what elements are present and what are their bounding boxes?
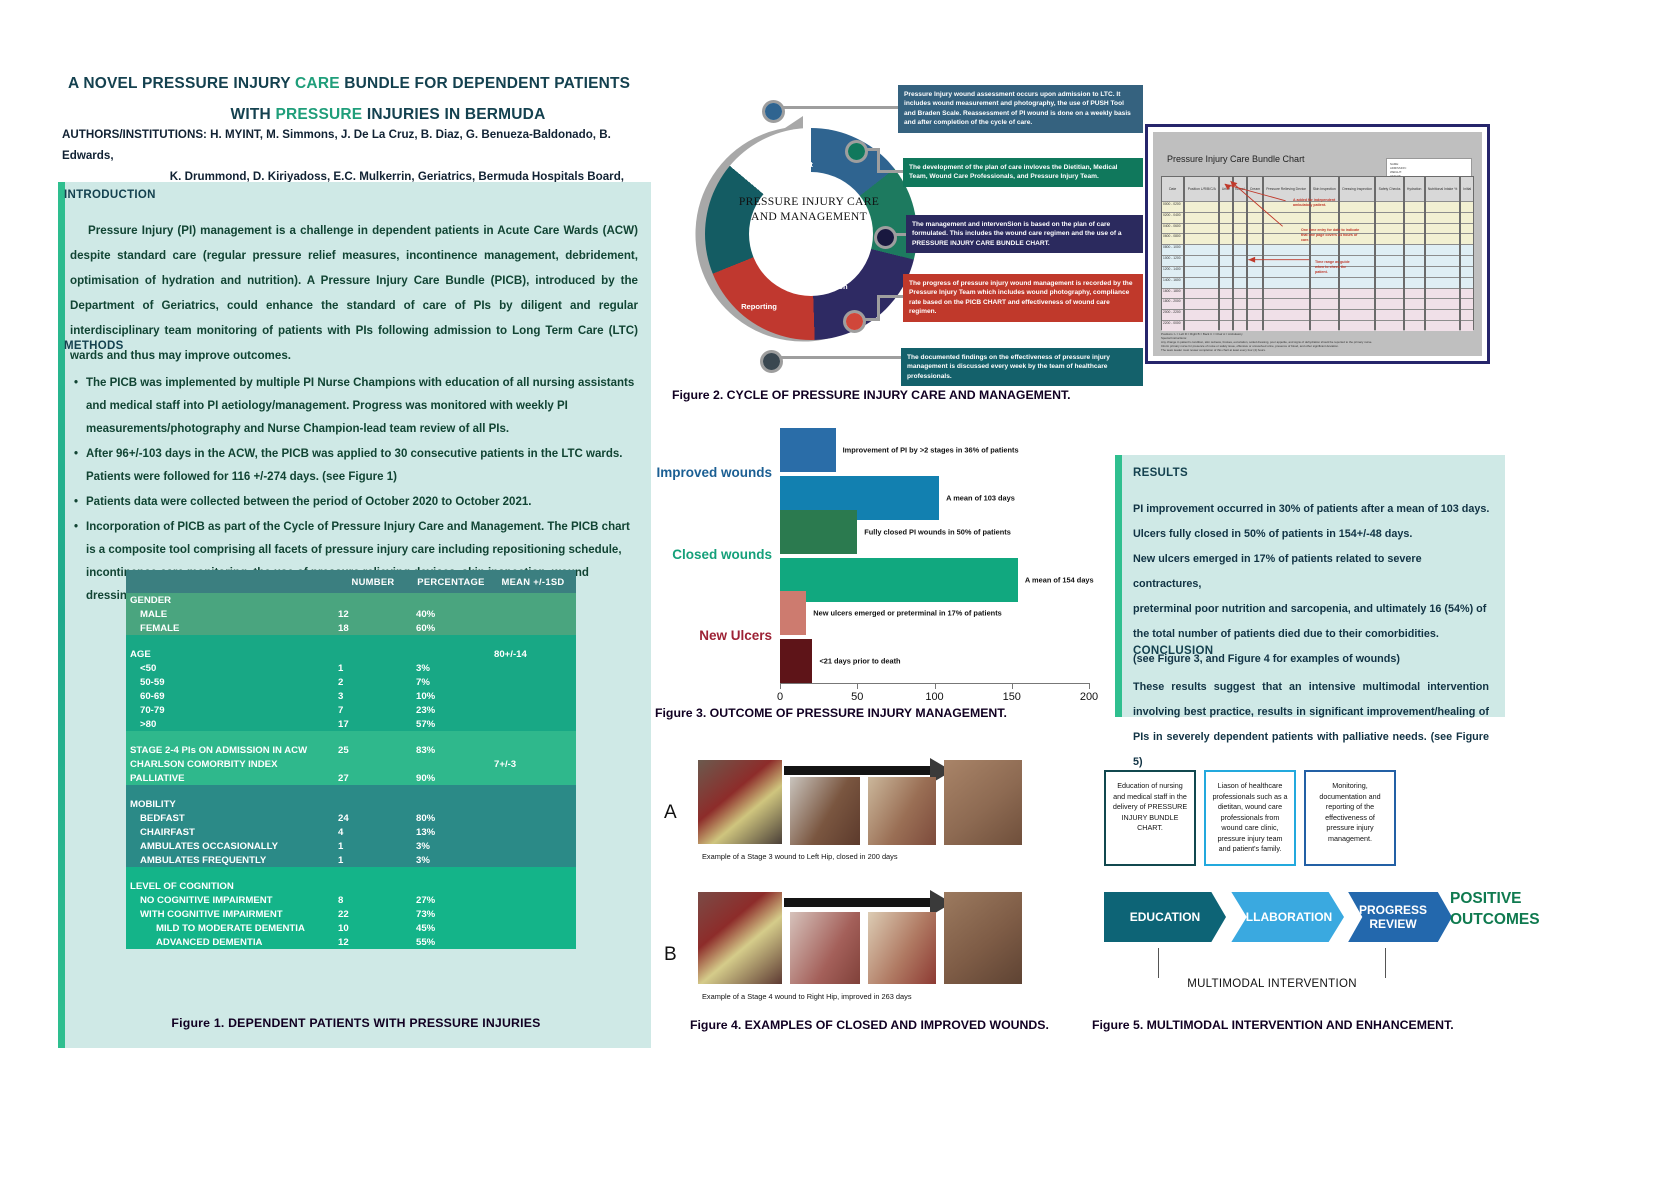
picb-cell <box>1220 277 1231 288</box>
table-cell-mean <box>490 717 576 731</box>
picb-cell <box>1340 212 1374 223</box>
picb-cell <box>1426 201 1460 212</box>
col-header-label <box>126 570 334 593</box>
wound-photo-a4 <box>944 760 1022 845</box>
picb-cell <box>1248 320 1261 331</box>
title-part-2: CARE <box>295 75 344 92</box>
picb-column-header: Bowel <box>1234 177 1247 201</box>
cycle-hub-documentation <box>843 310 866 333</box>
figure3-x-axis: 050100150200 <box>780 683 1089 684</box>
picb-cell <box>1185 266 1218 277</box>
figure3-bar-label: A mean of 103 days <box>946 493 1015 502</box>
cycle-hub-reporting <box>760 350 783 373</box>
figure3-axis-tick <box>935 683 936 689</box>
table-cell-label: >80 <box>126 717 334 731</box>
picb-cell <box>1376 223 1402 234</box>
table-cell-mean <box>490 675 576 689</box>
table-cell-number: 10 <box>334 921 412 935</box>
picb-cell <box>1248 309 1261 320</box>
wound-photo-a3 <box>868 777 936 845</box>
table-cell-mean <box>490 893 576 907</box>
picb-cell <box>1311 212 1338 223</box>
picb-cell <box>1376 288 1402 299</box>
picb-cell: 0400 - 0600 <box>1162 223 1183 234</box>
picb-cell <box>1461 320 1473 331</box>
picb-column-header: Cream <box>1248 177 1261 201</box>
table-cell-number: 12 <box>334 607 412 621</box>
picb-cell <box>1234 309 1247 320</box>
figure5-stage-education: EDUCATION <box>1104 892 1226 942</box>
picb-cell <box>1220 288 1231 299</box>
picb-cell <box>1220 298 1231 309</box>
table-row: MALE1240% <box>126 607 576 621</box>
picb-cell <box>1461 309 1473 320</box>
picb-cell <box>1426 266 1460 277</box>
figure4-caption-b: Example of a Stage 4 wound to Right Hip,… <box>702 992 912 1001</box>
table-cell-number: 4 <box>334 825 412 839</box>
table-cell-number: 7 <box>334 703 412 717</box>
table-spacer-row <box>126 635 576 647</box>
table-row: FEMALE1860% <box>126 621 576 635</box>
picb-cell <box>1426 233 1460 244</box>
picb-cell <box>1234 223 1247 234</box>
picb-cell: 1600 - 1800 <box>1162 288 1183 299</box>
picb-cell <box>1461 266 1473 277</box>
figure3-group-label: New Ulcers <box>699 628 772 643</box>
segment-label-plan-of-care: Plan ofCare <box>805 180 853 200</box>
table-cell-percentage: 27% <box>412 893 490 907</box>
table-row: WITH COGNITIVE IMPAIRMENT2273% <box>126 907 576 921</box>
picb-column-header: Initial <box>1461 177 1473 201</box>
table-row: PALLIATIVE2790% <box>126 771 576 785</box>
table-cell-number: 18 <box>334 621 412 635</box>
table-cell-percentage <box>412 647 490 661</box>
figure4-row-letter-a: A <box>664 802 677 824</box>
table-cell-label: STAGE 2-4 PIs ON ADMISSION IN ACW <box>126 743 334 757</box>
picb-cell <box>1264 266 1309 277</box>
table-spacer-row <box>126 731 576 743</box>
figure5-box-education: Education of nursing and medical staff i… <box>1104 770 1196 866</box>
figure3-group-label: Improved wounds <box>656 465 772 480</box>
figure3-bar-label: New ulcers emerged or preterminal in 17%… <box>813 609 1002 618</box>
picb-column-body: 0000 - 02000200 - 04000400 - 06000600 - … <box>1162 201 1183 331</box>
picb-cell <box>1220 212 1231 223</box>
table-row: 60-69310% <box>126 689 576 703</box>
results-line: New ulcers emerged in 17% of patients re… <box>1133 547 1493 597</box>
col-header-mean: MEAN +/-1SD <box>490 570 576 593</box>
picb-column-header: Nutritional Intake % <box>1426 177 1460 201</box>
picb-cell <box>1405 223 1424 234</box>
table-cell-percentage: 57% <box>412 717 490 731</box>
segment-label-assessment: Assessment/Re-assessment <box>749 150 821 170</box>
picb-annotation-3: Time range as guide when to check the pa… <box>1315 260 1357 275</box>
picb-cell <box>1376 201 1402 212</box>
picb-cell <box>1248 223 1261 234</box>
table-cell-mean <box>490 703 576 717</box>
table-cell-label: AMBULATES FREQUENTLY <box>126 853 334 867</box>
picb-cell <box>1461 223 1473 234</box>
table-cell-percentage <box>412 879 490 893</box>
picb-cell <box>1340 288 1374 299</box>
callout-box-reporting: The documented findings on the effective… <box>901 348 1143 386</box>
cycle-center-line-2: AND MANAGEMENT <box>693 209 925 224</box>
table-row: <5013% <box>126 661 576 675</box>
table-row: AMBULATES OCCASIONALLY13% <box>126 839 576 853</box>
figure5-outcome-line-2: OUTCOMES <box>1450 909 1540 930</box>
picb-cell <box>1234 212 1247 223</box>
picb-cell <box>1376 277 1402 288</box>
picb-cell <box>1340 320 1374 331</box>
picb-cell <box>1264 244 1309 255</box>
picb-cell <box>1248 233 1261 244</box>
introduction-heading: INTRODUCTION <box>64 189 156 201</box>
picb-cell <box>1376 233 1402 244</box>
picb-cell: 1200 - 1400 <box>1162 266 1183 277</box>
figure3-axis-tick-label: 200 <box>1080 691 1098 703</box>
picb-cell <box>1185 212 1218 223</box>
results-line: the total number of patients died due to… <box>1133 622 1493 647</box>
figure2-cycle-diagram: PRESSURE INJURY CARE AND MANAGEMENT Asse… <box>655 82 1155 392</box>
table-cell-number <box>334 647 412 661</box>
figure5-stage-collaboration: COLLABORATION <box>1216 892 1344 942</box>
table-cell-label: 50-59 <box>126 675 334 689</box>
figure3-axis-tick-label: 100 <box>925 691 943 703</box>
picb-cell: 0000 - 0200 <box>1162 201 1183 212</box>
picb-chart-image: Pressure Injury Care Bundle Chart NAME:A… <box>1145 124 1490 364</box>
table-cell-mean <box>490 797 576 811</box>
table-cell-label: AMBULATES OCCASIONALLY <box>126 839 334 853</box>
picb-cell <box>1185 244 1218 255</box>
picb-cell <box>1376 212 1402 223</box>
table-cell-number: 8 <box>334 893 412 907</box>
picb-column-header: Date <box>1162 177 1183 201</box>
picb-cell <box>1234 288 1247 299</box>
picb-cell <box>1220 255 1231 266</box>
picb-cell <box>1234 266 1247 277</box>
table-cell-number: 27 <box>334 771 412 785</box>
segment-label-management: Management/Intervention <box>807 230 869 250</box>
table-row: >801757% <box>126 717 576 731</box>
picb-cell <box>1376 320 1402 331</box>
table-cell-label: MOBILITY <box>126 797 334 811</box>
table-cell-label: NO COGNITIVE IMPAIRMENT <box>126 893 334 907</box>
picb-cell <box>1405 201 1424 212</box>
picb-cell <box>1405 255 1424 266</box>
figure3-axis-tick <box>857 683 858 689</box>
picb-cell <box>1264 298 1309 309</box>
picb-cell <box>1311 277 1338 288</box>
picb-cell <box>1220 266 1231 277</box>
picb-cell <box>1376 298 1402 309</box>
picb-cell <box>1405 309 1424 320</box>
table-cell-number <box>334 797 412 811</box>
picb-cell <box>1220 309 1231 320</box>
conclusion-heading: CONCLUSION <box>1133 645 1213 657</box>
picb-column: Bowel <box>1233 176 1248 330</box>
results-line: preterminal poor nutrition and sarcopeni… <box>1133 597 1493 622</box>
results-line: Ulcers fully closed in 50% of patients i… <box>1133 522 1493 547</box>
table-cell-percentage: 40% <box>412 607 490 621</box>
table-row: GENDER <box>126 593 576 607</box>
figure3-bar-chart: Improved woundsImprovement of PI by >2 s… <box>655 425 1095 710</box>
wound-photo-a2 <box>790 777 860 845</box>
title-part-1: A NOVEL PRESSURE INJURY <box>68 75 295 92</box>
picb-column-body <box>1376 201 1402 331</box>
table-row: AGE80+/-14 <box>126 647 576 661</box>
poster-canvas: A NOVEL PRESSURE INJURY CARE BUNDLE FOR … <box>0 0 1677 1185</box>
table-cell-mean <box>490 689 576 703</box>
conclusion-body: These results suggest that an intensive … <box>1133 675 1489 775</box>
table-row: CHAIRFAST413% <box>126 825 576 839</box>
table-row: 50-5927% <box>126 675 576 689</box>
picb-cell <box>1340 277 1374 288</box>
figure5-multimodal-diagram: Education of nursing and medical staff i… <box>1098 770 1498 1020</box>
table-cell-number: 17 <box>334 717 412 731</box>
figure1-table: NUMBER PERCENTAGE MEAN +/-1SD GENDERMALE… <box>126 570 576 949</box>
picb-cell: 0200 - 0400 <box>1162 212 1183 223</box>
table-row: AMBULATES FREQUENTLY13% <box>126 853 576 867</box>
table-cell-percentage: 23% <box>412 703 490 717</box>
figure1-table-body: GENDERMALE1240%FEMALE1860%AGE80+/-14<501… <box>126 593 576 949</box>
picb-cell <box>1248 288 1261 299</box>
table-spacer-row <box>126 785 576 797</box>
table-cell-mean: 7+/-3 <box>490 757 576 771</box>
picb-cell <box>1376 244 1402 255</box>
picb-column-body <box>1264 201 1309 331</box>
title-part-3: BUNDLE FOR DEPENDENT PATIENTS <box>344 75 630 92</box>
picb-cell <box>1311 320 1338 331</box>
picb-chart-footnotes: Positions: L = Left R = Right B = Back C… <box>1161 332 1474 352</box>
figure3-axis-tick <box>1012 683 1013 689</box>
table-cell-percentage: 55% <box>412 935 490 949</box>
picb-cell <box>1264 255 1309 266</box>
picb-annotation-1: A added for independent ambulatory patie… <box>1293 198 1353 208</box>
methods-heading: METHODS <box>64 340 124 352</box>
table-cell-mean <box>490 825 576 839</box>
picb-column-body <box>1248 201 1261 331</box>
table-cell-percentage: 45% <box>412 921 490 935</box>
table-cell-number: 1 <box>334 853 412 867</box>
title-part-6: INJURIES <box>367 106 445 123</box>
picb-cell <box>1405 244 1424 255</box>
picb-cell <box>1461 212 1473 223</box>
picb-column-body <box>1461 201 1473 331</box>
table-cell-label: 60-69 <box>126 689 334 703</box>
table-cell-number: 1 <box>334 661 412 675</box>
title-part-7: IN BERMUDA <box>444 106 545 123</box>
table-cell-label: GENDER <box>126 593 334 607</box>
figure3-axis-tick-label: 0 <box>777 691 783 703</box>
figure4-caption-a: Example of a Stage 3 wound to Left Hip, … <box>702 852 898 861</box>
results-heading: RESULTS <box>1133 467 1188 479</box>
table-cell-mean <box>490 593 576 607</box>
picb-cell <box>1234 320 1247 331</box>
picb-cell: 0800 - 1000 <box>1162 244 1183 255</box>
picb-cell <box>1311 298 1338 309</box>
picb-cell <box>1405 277 1424 288</box>
picb-cell <box>1185 309 1218 320</box>
table-cell-label: <50 <box>126 661 334 675</box>
picb-cell <box>1185 277 1218 288</box>
title-part-4: WITH <box>231 106 276 123</box>
picb-column: Urine <box>1219 176 1232 330</box>
cycle-hub-management <box>874 226 897 249</box>
table-cell-percentage: 3% <box>412 839 490 853</box>
table-cell-label: LEVEL OF COGNITION <box>126 879 334 893</box>
picb-column-body <box>1426 201 1460 331</box>
table-cell-mean <box>490 661 576 675</box>
table-cell-percentage: 7% <box>412 675 490 689</box>
picb-cell <box>1234 277 1247 288</box>
table-cell-mean <box>490 839 576 853</box>
results-line: PI improvement occurred in 30% of patien… <box>1133 497 1493 522</box>
picb-cell <box>1311 244 1338 255</box>
picb-cell <box>1426 277 1460 288</box>
callout-box-assessment: Pressure Injury wound assessment occurs … <box>898 85 1143 133</box>
picb-column-header: Safety Checks <box>1376 177 1402 201</box>
picb-cell <box>1264 212 1309 223</box>
picb-cell <box>1426 320 1460 331</box>
picb-cell <box>1405 320 1424 331</box>
picb-cell <box>1405 233 1424 244</box>
picb-cell <box>1426 309 1460 320</box>
figure3-axis-tick-label: 150 <box>1003 691 1021 703</box>
picb-cell <box>1248 298 1261 309</box>
picb-column: Hydration <box>1404 176 1425 330</box>
methods-list-item: Patients data were collected between the… <box>74 491 640 514</box>
picb-column-body <box>1234 201 1247 331</box>
picb-cell <box>1234 233 1247 244</box>
page-title: A NOVEL PRESSURE INJURY CARE BUNDLE FOR … <box>68 68 668 130</box>
picb-column-header: Position L/R/B/C/A <box>1185 177 1218 201</box>
picb-cell <box>1234 255 1247 266</box>
col-header-number: NUMBER <box>334 570 412 593</box>
figure1-caption: Figure 1. DEPENDENT PATIENTS WITH PRESSU… <box>126 1016 586 1030</box>
picb-cell <box>1461 244 1473 255</box>
picb-cell <box>1220 233 1231 244</box>
title-line-1: A NOVEL PRESSURE INJURY CARE BUNDLE FOR … <box>68 68 668 99</box>
figure3-bar <box>780 510 857 554</box>
wound-photo-b1 <box>698 892 782 984</box>
picb-cell <box>1340 244 1374 255</box>
table-row: ADVANCED DEMENTIA1255% <box>126 935 576 949</box>
picb-cell <box>1461 298 1473 309</box>
picb-column: Date0000 - 02000200 - 04000400 - 0600060… <box>1161 176 1184 330</box>
figure3-group-label: Closed wounds <box>672 547 772 562</box>
table-row: MILD TO MODERATE DEMENTIA1045% <box>126 921 576 935</box>
picb-cell <box>1426 244 1460 255</box>
table-spacer-row <box>126 867 576 879</box>
picb-cell <box>1405 212 1424 223</box>
picb-cell <box>1264 277 1309 288</box>
picb-column: Safety Checks <box>1375 176 1403 330</box>
picb-cell <box>1461 201 1473 212</box>
picb-cell <box>1376 255 1402 266</box>
picb-cell <box>1234 201 1247 212</box>
picb-cell <box>1461 277 1473 288</box>
col-header-percentage: PERCENTAGE <box>412 570 490 593</box>
picb-column-body <box>1405 201 1424 331</box>
figure3-bar-row: Improvement of PI by >2 stages in 36% of… <box>780 428 1089 472</box>
picb-cell <box>1248 255 1261 266</box>
table-row: STAGE 2-4 PIs ON ADMISSION IN ACW2583% <box>126 743 576 757</box>
figure5-caption: Figure 5. MULTIMODAL INTERVENTION AND EN… <box>1092 1018 1454 1032</box>
picb-cell <box>1220 223 1231 234</box>
picb-cell <box>1461 233 1473 244</box>
methods-list-item: The PICB was implemented by multiple PI … <box>74 372 640 441</box>
introduction-paragraph: Pressure Injury (PI) management is a cha… <box>70 218 638 368</box>
picb-cell <box>1220 244 1231 255</box>
figure4-row-letter-b: B <box>664 944 677 966</box>
picb-chart-inner: Pressure Injury Care Bundle Chart NAME:A… <box>1153 132 1482 356</box>
picb-cell <box>1264 288 1309 299</box>
leader-line-4b <box>877 295 880 321</box>
picb-cell <box>1185 298 1218 309</box>
picb-cell: 2200 - 0000 <box>1162 320 1183 331</box>
figure2-caption: Figure 2. CYCLE OF PRESSURE INJURY CARE … <box>672 388 1071 402</box>
figure5-box-collaboration: Liason of healthcare professionals such … <box>1204 770 1296 866</box>
table-row: MOBILITY <box>126 797 576 811</box>
picb-annotation-2: One time entry for date to indicate that… <box>1301 228 1363 243</box>
table-cell-mean <box>490 921 576 935</box>
table-cell-percentage: 80% <box>412 811 490 825</box>
segment-label-reporting: Reporting <box>731 302 787 312</box>
figure3-bar-row: Fully closed PI wounds in 50% of patient… <box>780 510 1089 554</box>
picb-cell <box>1376 266 1402 277</box>
table-cell-number: 3 <box>334 689 412 703</box>
picb-cell <box>1405 288 1424 299</box>
picb-cell <box>1311 309 1338 320</box>
table-cell-percentage <box>412 797 490 811</box>
picb-cell <box>1185 320 1218 331</box>
figure3-bar <box>780 428 836 472</box>
picb-cell: 2000 - 2200 <box>1162 309 1183 320</box>
callout-box-management: The management and intervenSion is based… <box>906 215 1143 253</box>
picb-column: Position L/R/B/C/A <box>1184 176 1219 330</box>
picb-cell <box>1248 201 1261 212</box>
authors-line-1: AUTHORS/INSTITUTIONS: H. MYINT, M. Simmo… <box>62 124 642 166</box>
picb-cell <box>1185 288 1218 299</box>
callout-box-documentation: The progress of pressure injury wound ma… <box>903 274 1143 322</box>
table-cell-percentage: 3% <box>412 661 490 675</box>
picb-column: Nutritional Intake % <box>1425 176 1461 330</box>
table-cell-label: CHAIRFAST <box>126 825 334 839</box>
leader-line-2c <box>877 170 905 173</box>
picb-cell: 1000 - 1200 <box>1162 255 1183 266</box>
picb-cell <box>1426 223 1460 234</box>
cycle-hub-assessment <box>762 100 785 123</box>
picb-cell <box>1426 212 1460 223</box>
picb-cell <box>1426 288 1460 299</box>
figure5-bracket-label: MULTIMODAL INTERVENTION <box>1138 978 1406 990</box>
table-cell-label: CHARLSON COMORBITY INDEX <box>126 757 334 771</box>
picb-cell <box>1248 212 1261 223</box>
figure3-bar <box>780 591 806 635</box>
picb-cell <box>1185 223 1218 234</box>
picb-cell <box>1234 244 1247 255</box>
table-cell-label: WITH COGNITIVE IMPAIRMENT <box>126 907 334 921</box>
picb-column-header: Hydration <box>1405 177 1424 201</box>
figure3-caption: Figure 3. OUTCOME OF PRESSURE INJURY MAN… <box>655 706 1007 720</box>
table-cell-number: 24 <box>334 811 412 825</box>
picb-cell: 1400 - 1600 <box>1162 277 1183 288</box>
figure3-bar-label: Fully closed PI wounds in 50% of patient… <box>864 527 1011 536</box>
figure3-axis-tick <box>1089 683 1090 689</box>
methods-list-item: After 96+/-103 days in the ACW, the PICB… <box>74 443 640 489</box>
table-row: NO COGNITIVE IMPAIRMENT827% <box>126 893 576 907</box>
picb-cell <box>1220 320 1231 331</box>
table-cell-number <box>334 593 412 607</box>
